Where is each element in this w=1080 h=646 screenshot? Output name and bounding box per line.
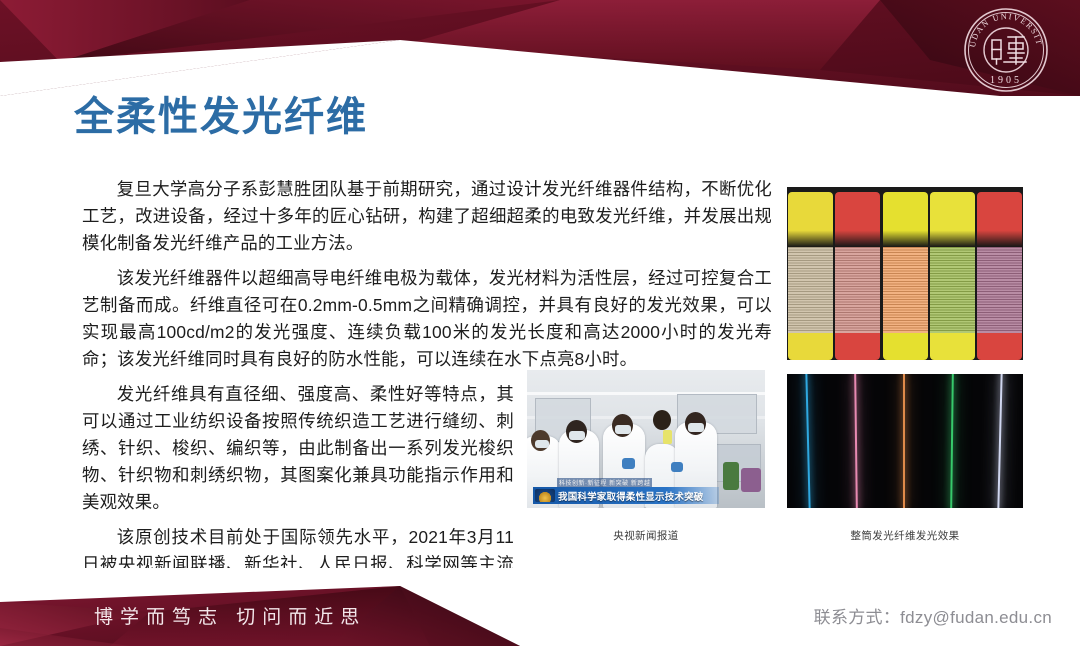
svg-text:FUDAN UNIVERSITY: FUDAN UNIVERSITY — [962, 6, 1044, 48]
spool-cap-top — [883, 192, 928, 247]
spool-thread — [930, 247, 975, 333]
chyron-subline: 科技创新·新征程 新突破 新跨越 — [557, 478, 652, 487]
glowing-fiber-line — [903, 374, 905, 508]
header-banner-graphic — [0, 0, 1080, 96]
gloved-hand — [622, 458, 635, 469]
glowing-fibers-photo — [787, 374, 1023, 508]
news-broadcast-figure: 科技创新·新征程 新突破 新跨越 我国科学家取得柔性显示技术突破 — [527, 370, 765, 508]
spool-cap-bottom — [930, 333, 975, 360]
glowing-fiber-line — [805, 374, 810, 508]
spool-cap-bottom — [977, 333, 1022, 360]
spool-cap-bottom — [788, 333, 833, 360]
seal-graphic: FUDAN UNIVERSITY 1905 — [962, 6, 1050, 94]
researcher-head — [653, 410, 671, 430]
spool-cap-top — [977, 192, 1022, 247]
news-chyron-bar: 我国科学家取得柔性显示技术突破 — [533, 487, 719, 504]
glowing-fiber-line — [997, 374, 1002, 508]
news-broadcast-photo: 科技创新·新征程 新突破 新跨越 我国科学家取得柔性显示技术突破 — [527, 370, 765, 508]
fiber-spools-photo — [787, 187, 1023, 360]
spool-cap-top — [788, 192, 833, 247]
paragraph-3: 发光纤维具有直径细、强度高、柔性好等特点，其可以通过工业纺织设备按照传统织造工艺… — [82, 381, 514, 516]
fiber-spools-figure — [787, 187, 1023, 360]
spool-cap-top — [930, 192, 975, 247]
lab-equipment — [723, 462, 739, 490]
fiber-spool — [930, 192, 975, 360]
svg-text:1905: 1905 — [990, 75, 1022, 86]
spool-thread — [788, 247, 833, 333]
footer-contact: 联系方式：fdzy@fudan.edu.cn — [814, 603, 1052, 628]
header-banner — [0, 0, 1080, 96]
glowing-fiber-line — [950, 374, 954, 508]
fiber-spool — [835, 192, 880, 360]
paragraph-1: 复旦大学高分子系彭慧胜团队基于前期研究，通过设计发光纤维器件结构，不断优化工艺，… — [82, 176, 772, 257]
fudan-university-seal-logo: FUDAN UNIVERSITY 1905 — [962, 6, 1050, 94]
spool-thread — [835, 247, 880, 333]
spool-cap-top — [835, 192, 880, 247]
face-mask — [569, 431, 585, 440]
fiber-spool — [883, 192, 928, 360]
chyron-headline: 我国科学家取得柔性显示技术突破 — [558, 489, 704, 503]
cctv-logo-icon — [535, 489, 555, 502]
gloved-hand — [671, 462, 683, 472]
spool-thread — [883, 247, 928, 333]
slide-root: FUDAN UNIVERSITY 1905 全柔性发光纤维 复旦大学高分子系彭慧… — [0, 0, 1080, 646]
footer-motto: 博学而笃志 切问而近思 — [94, 602, 366, 629]
face-mask — [688, 423, 704, 432]
fiber-spool — [788, 192, 833, 360]
sample-vial — [663, 430, 672, 444]
caption-glowing-fibers: 整筒发光纤维发光效果 — [787, 528, 1023, 543]
spool-cap-bottom — [883, 333, 928, 360]
fiber-spool — [977, 192, 1022, 360]
lab-equipment — [741, 468, 761, 492]
spool-cap-bottom — [835, 333, 880, 360]
caption-news: 央视新闻报道 — [527, 528, 765, 543]
paragraph-2: 该发光纤维器件以超细高导电纤维电极为载体，发光材料为活性层，经过可控复合工艺制备… — [82, 265, 772, 373]
page-title: 全柔性发光纤维 — [74, 93, 368, 141]
face-mask — [615, 425, 631, 434]
glowing-fiber-line — [854, 374, 858, 508]
spool-thread — [977, 247, 1022, 333]
face-mask — [535, 440, 549, 448]
glowing-fibers-figure — [787, 374, 1023, 508]
